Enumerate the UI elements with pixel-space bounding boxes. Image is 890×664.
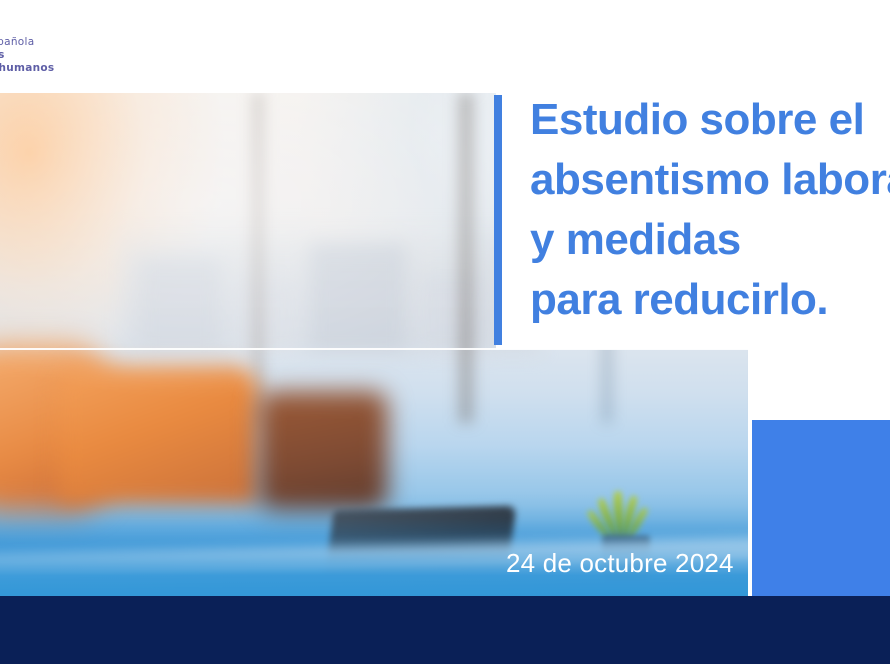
title-line-2: absentismo laboral	[530, 150, 890, 210]
logo-line-3: de recursos humanos	[0, 62, 122, 75]
title-line-4: para reducirlo.	[530, 270, 890, 330]
logo-line-1: Asociación española	[0, 36, 122, 49]
title-slide: Asociación española de directores de rec…	[0, 0, 890, 664]
vertical-accent-bar	[494, 95, 502, 345]
presentation-date: 24 de octubre 2024	[506, 548, 734, 579]
aedrh-logo: Asociación española de directores de rec…	[0, 36, 122, 75]
title-line-1: Estudio sobre el	[530, 90, 890, 150]
blue-accent-rectangle	[752, 420, 890, 596]
bottom-navy-band	[0, 596, 890, 664]
office-photo-upper-band	[0, 93, 496, 349]
photo-light-haze	[0, 93, 496, 349]
page-title: Estudio sobre el absentismo laboral y me…	[530, 90, 890, 330]
logo-line-2: de directores	[0, 49, 122, 62]
title-line-3: y medidas	[530, 210, 890, 270]
office-photo-image	[0, 93, 496, 349]
white-divider-rule	[0, 348, 748, 350]
